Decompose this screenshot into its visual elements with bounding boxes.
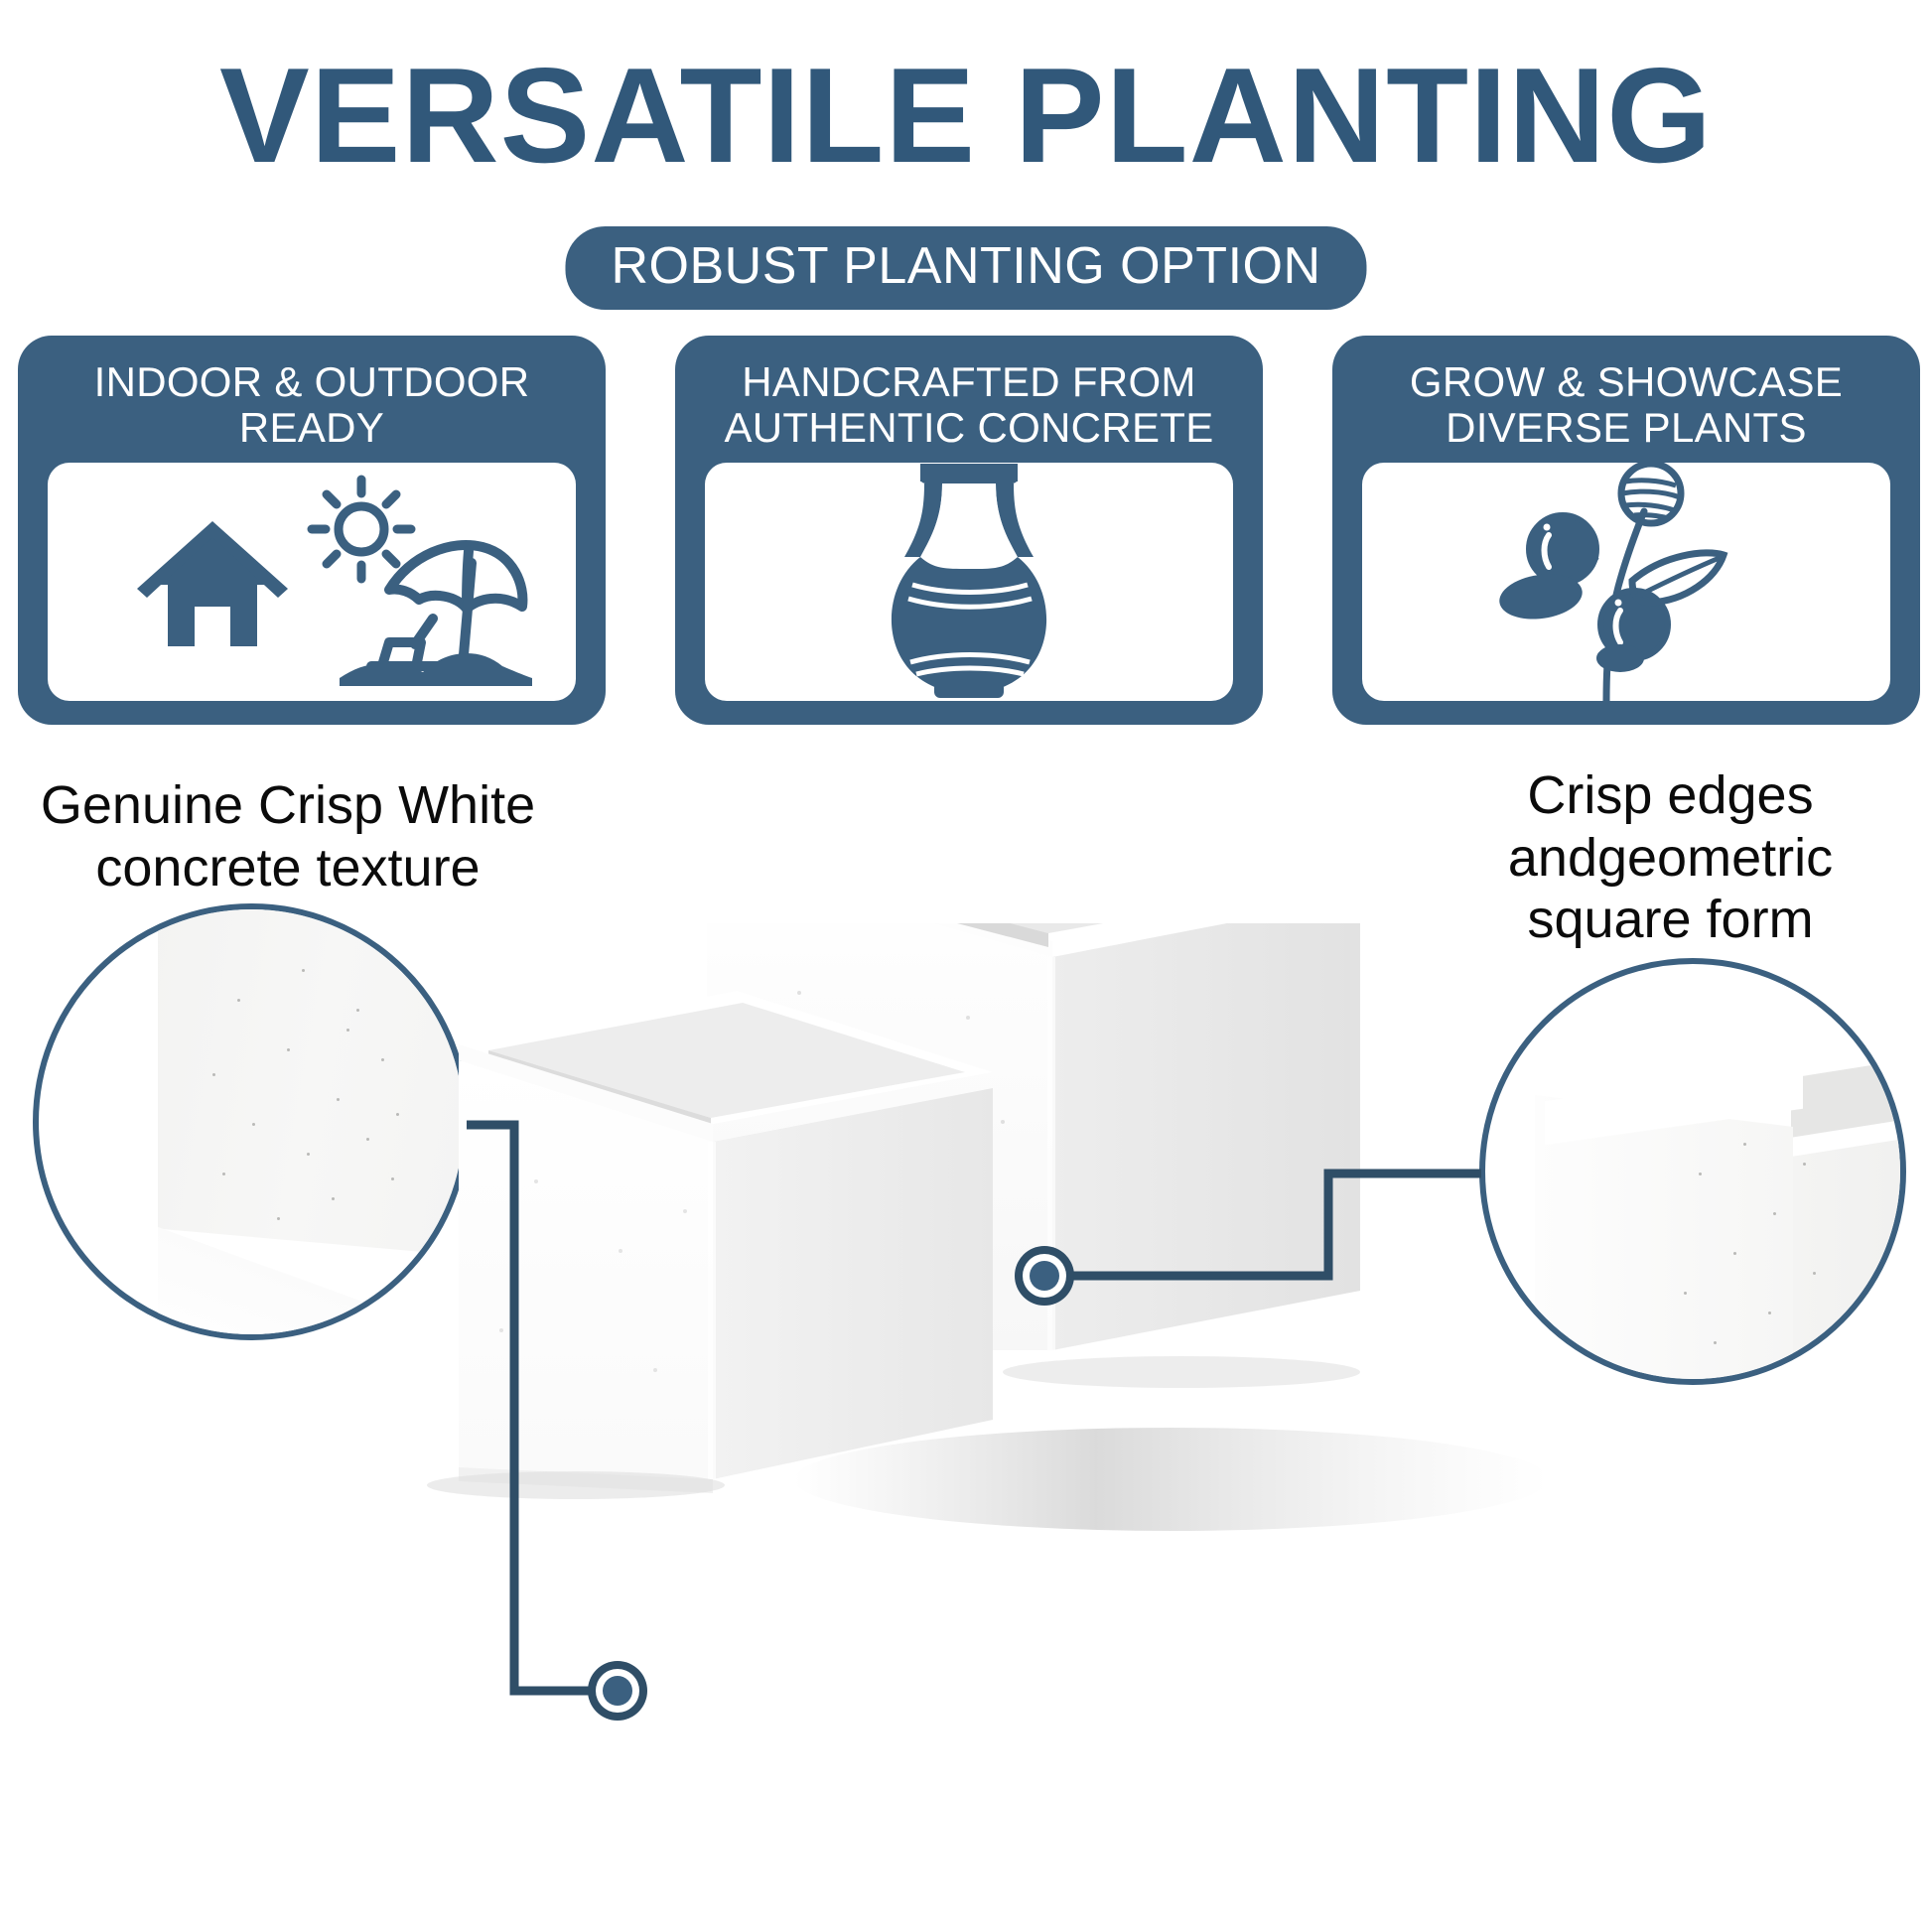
annotation-right-line2: andgeometric: [1420, 827, 1921, 890]
rear-contact-shadow: [1003, 1356, 1360, 1388]
front-contact-shadow: [427, 1471, 725, 1499]
annotation-left: Genuine Crisp White concrete texture: [10, 774, 566, 898]
feature-card-icon-panel: [48, 463, 576, 701]
feature-card-title-line1: HANDCRAFTED FROM: [697, 359, 1241, 405]
feature-card-title-line2: READY: [40, 405, 584, 451]
infographic-page: VERSATILE PLANTING ROBUST PLANTING OPTIO…: [0, 0, 1932, 1932]
striped-berry-icon: [1621, 463, 1681, 523]
product-photo-planters: [0, 923, 1932, 1932]
page-title: VERSATILE PLANTING: [0, 48, 1932, 183]
feature-card-title-line2: DIVERSE PLANTS: [1354, 405, 1898, 451]
sun-icon: [312, 480, 411, 579]
indoor-outdoor-icon-group: [73, 468, 550, 696]
feature-card-grow-showcase: GROW & SHOWCASE DIVERSE PLANTS: [1332, 336, 1920, 725]
feature-card-title-line2: AUTHENTIC CONCRETE: [697, 405, 1241, 451]
berry-branch-icon: [1487, 463, 1765, 701]
planter-illustration: [0, 923, 1932, 1932]
feature-card-title: INDOOR & OUTDOOR READY: [34, 351, 590, 455]
feature-card-handcrafted-concrete: HANDCRAFTED FROM AUTHENTIC CONCRETE: [675, 336, 1263, 725]
front-planter: [459, 991, 993, 1493]
feature-card-title: HANDCRAFTED FROM AUTHENTIC CONCRETE: [691, 351, 1247, 455]
beach-sand-icon: [340, 653, 532, 686]
annotation-left-line2: concrete texture: [10, 837, 566, 899]
house-icon: [137, 521, 288, 646]
subtitle-badge: ROBUST PLANTING OPTION: [565, 226, 1366, 310]
feature-card-icon-panel: [1362, 463, 1890, 701]
feature-card-title: GROW & SHOWCASE DIVERSE PLANTS: [1348, 351, 1904, 455]
vase-icon: [855, 463, 1083, 701]
annotation-right-line1: Crisp edges: [1420, 764, 1921, 827]
feature-card-title-line1: INDOOR & OUTDOOR: [40, 359, 584, 405]
floor-shadow: [794, 1428, 1549, 1531]
feature-card-title-line1: GROW & SHOWCASE: [1354, 359, 1898, 405]
feature-card-icon-panel: [705, 463, 1233, 701]
berry-left-icon: [1529, 515, 1596, 583]
annotation-left-line1: Genuine Crisp White: [10, 774, 566, 837]
feature-card-indoor-outdoor: INDOOR & OUTDOOR READY: [18, 336, 606, 725]
